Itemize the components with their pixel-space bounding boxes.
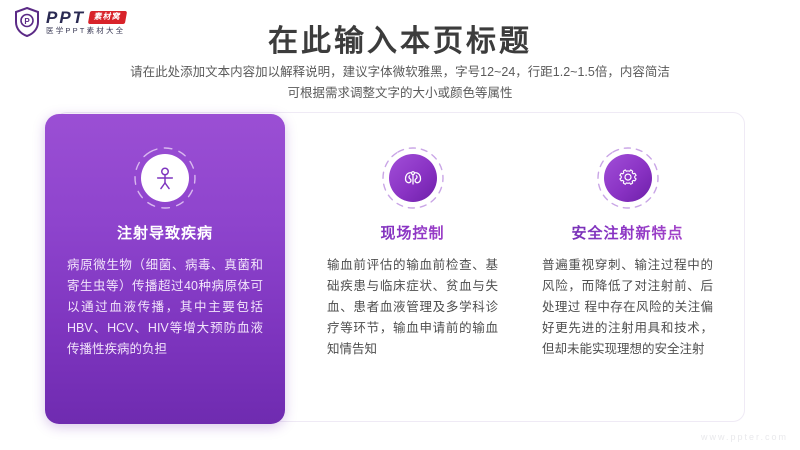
subtitle-line-2: 可根据需求调整文字的大小或颜色等属性 xyxy=(0,83,800,104)
card-title: 现场控制 xyxy=(327,222,498,243)
person-body-icon xyxy=(141,154,189,202)
card-icon-wrap xyxy=(385,150,441,206)
card-icon-wrap xyxy=(137,150,193,206)
card-icon-wrap xyxy=(600,150,656,206)
page-title: 在此输入本页标题 xyxy=(0,16,800,60)
card-body: 普遍重视穿刺、输注过程中的风险，而降低了对注射前、后处理过 程中存在风险的关注偏… xyxy=(542,255,713,360)
watermark: www.ppter.com xyxy=(701,432,788,442)
card-title: 注射导致疾病 xyxy=(67,222,263,243)
card-scene-control[interactable]: 现场控制 输血前评估的输血前检查、基础疾患与临床症状、贫血与失血、患者血液管理及… xyxy=(305,114,520,414)
kidneys-icon xyxy=(389,154,437,202)
page-subtitle: 请在此处添加文本内容加以解释说明，建议字体微软雅黑，字号12~24，行距1.2~… xyxy=(0,62,800,104)
card-injection-disease[interactable]: 注射导致疾病 病原微生物（细菌、病毒、真菌和寄生虫等）传播超过40种病原体可以通… xyxy=(45,114,285,424)
card-title: 安全注射新特点 xyxy=(542,222,713,243)
subtitle-line-1: 请在此处添加文本内容加以解释说明，建议字体微软雅黑，字号12~24，行距1.2~… xyxy=(0,62,800,83)
cards-row: 注射导致疾病 病原微生物（细菌、病毒、真菌和寄生虫等）传播超过40种病原体可以通… xyxy=(45,114,745,426)
gear-icon xyxy=(604,154,652,202)
card-safe-injection[interactable]: 安全注射新特点 普遍重视穿刺、输注过程中的风险，而降低了对注射前、后处理过 程中… xyxy=(520,114,735,414)
card-body: 病原微生物（细菌、病毒、真菌和寄生虫等）传播超过40种病原体可以通过血液传播，其… xyxy=(67,255,263,360)
card-body: 输血前评估的输血前检查、基础疾患与临床症状、贫血与失血、患者血液管理及多学科诊疗… xyxy=(327,255,498,360)
